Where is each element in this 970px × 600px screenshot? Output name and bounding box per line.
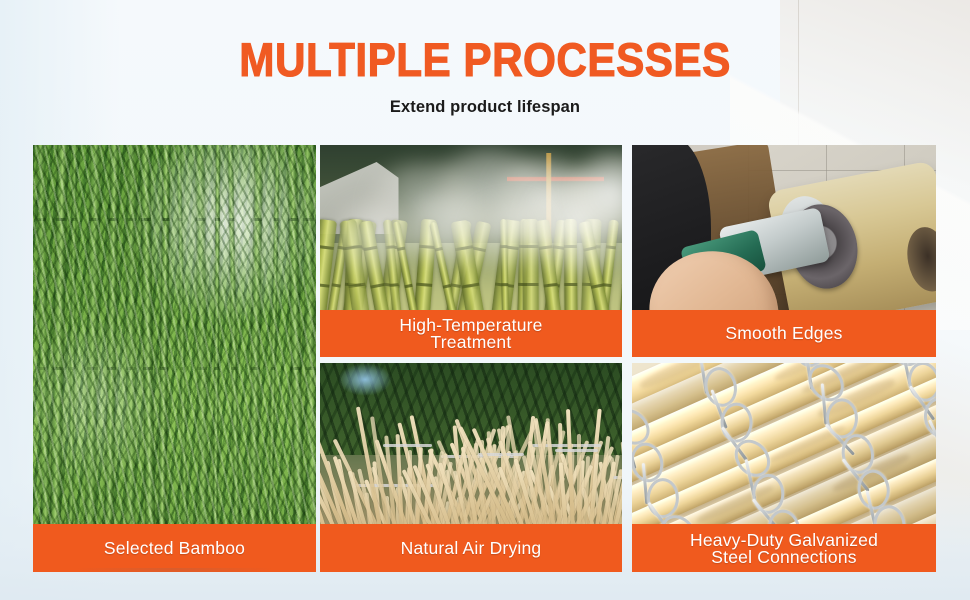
photo-bamboo-forest bbox=[33, 145, 316, 572]
panel-smooth-edges: Smooth Edges bbox=[632, 145, 936, 357]
caption-line-1: Selected Bamboo bbox=[104, 539, 245, 558]
caption-line-2: Steel Connections bbox=[690, 548, 878, 566]
panel-heavy-duty-galvanized-steel-connections: Heavy-Duty Galvanized Steel Connections bbox=[632, 363, 936, 572]
panel-natural-air-drying: Natural Air Drying bbox=[320, 363, 622, 572]
caption-line-2: Treatment bbox=[399, 333, 542, 351]
caption-line-1: Heavy-Duty Galvanized bbox=[690, 531, 878, 549]
page-subtitle: Extend product lifespan bbox=[0, 86, 970, 117]
panel-high-temperature-treatment: High-Temperature Treatment bbox=[320, 145, 622, 357]
infographic-banner: MULTIPLE PROCESSES Extend product lifesp… bbox=[0, 0, 970, 600]
caption-smooth-edges: Smooth Edges bbox=[632, 310, 936, 357]
caption-natural-air-drying: Natural Air Drying bbox=[320, 524, 622, 572]
panel-selected-bamboo: Selected Bamboo bbox=[33, 145, 316, 572]
page-title: MULTIPLE PROCESSES bbox=[49, 0, 922, 86]
caption-high-temperature-treatment: High-Temperature Treatment bbox=[320, 310, 622, 357]
caption-heavy-duty-galvanized-steel-connections: Heavy-Duty Galvanized Steel Connections bbox=[632, 524, 936, 572]
caption-line-1: Natural Air Drying bbox=[401, 539, 542, 558]
caption-line-1: Smooth Edges bbox=[725, 324, 842, 343]
header: MULTIPLE PROCESSES Extend product lifesp… bbox=[0, 0, 970, 117]
caption-selected-bamboo: Selected Bamboo bbox=[33, 524, 316, 572]
